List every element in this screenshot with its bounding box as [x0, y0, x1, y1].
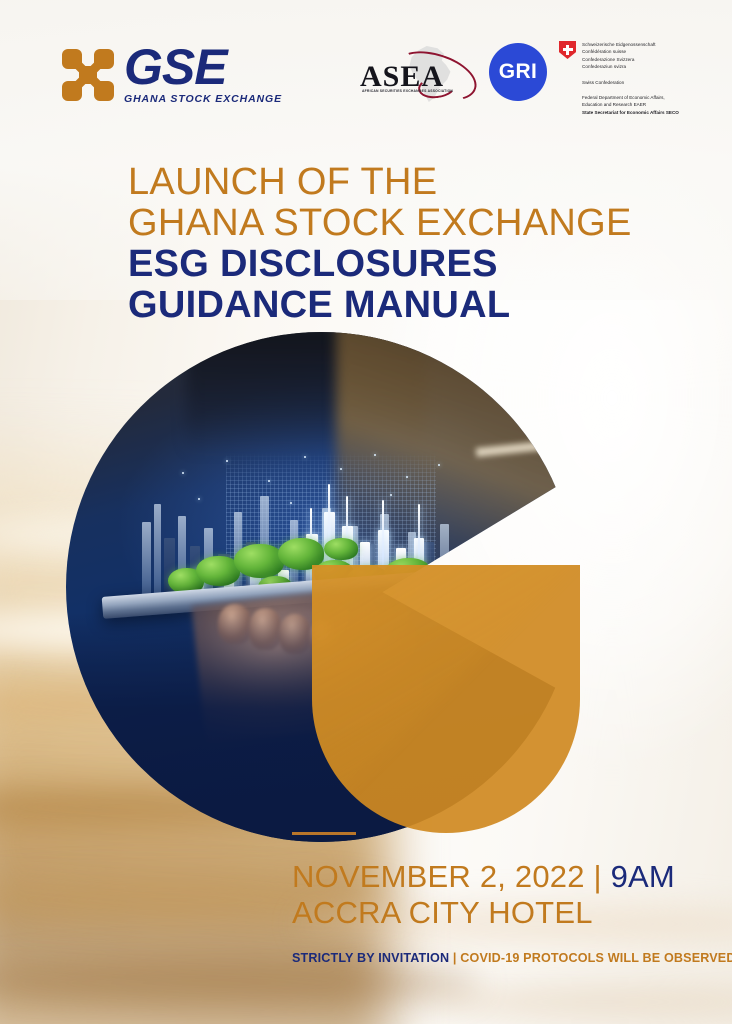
gse-tagline: GHANA STOCK EXCHANGE	[124, 93, 282, 105]
gse-cross-mark-icon	[62, 49, 114, 101]
event-venue: ACCRA CITY HOTEL	[292, 895, 732, 931]
event-date: NOVEMBER 2, 2022	[292, 859, 585, 894]
swiss-confederation-label: Swiss Confederation	[582, 80, 709, 85]
note-invitation: STRICTLY BY INVITATION	[292, 951, 449, 965]
gri-logo: GRI	[489, 43, 547, 101]
asea-logo: ASEA AFRICAN SECURITIES EXCHANGES ASSOCI…	[360, 48, 480, 106]
orange-semicircle-sheen	[312, 565, 580, 833]
event-note: STRICTLY BY INVITATION | COVID-19 PROTOC…	[292, 951, 732, 965]
swiss-dept-line1: Federal Department of Economic Affairs,	[582, 94, 709, 101]
note-separator: |	[453, 951, 457, 965]
datetime-separator: |	[594, 859, 602, 894]
swiss-lang-fr: Confédération suisse	[582, 48, 656, 55]
swiss-confederation-logo: Schweizerische Eidgenossenschaft Confédé…	[559, 41, 709, 116]
headline-line-4: GUIDANCE MANUAL	[128, 285, 632, 326]
event-time: 9AM	[611, 859, 675, 894]
swiss-dept-line3: State Secretariat for Economic Affairs S…	[582, 109, 709, 116]
event-datetime: NOVEMBER 2, 2022 | 9AM	[292, 859, 732, 895]
event-details: NOVEMBER 2, 2022 | 9AM ACCRA CITY HOTEL …	[292, 832, 732, 965]
gse-wordmark-block: GSE GHANA STOCK EXCHANGE	[124, 44, 282, 105]
swiss-dept-line2: Education and Research EAER	[582, 101, 709, 108]
gse-wordmark: GSE	[124, 44, 282, 91]
poster-canvas: GSE GHANA STOCK EXCHANGE ASEA AFRICAN SE…	[0, 0, 732, 1024]
poster-headline: LAUNCH OF THE GHANA STOCK EXCHANGE ESG D…	[128, 162, 632, 326]
gse-logo: GSE GHANA STOCK EXCHANGE	[62, 44, 282, 105]
asea-tagline: AFRICAN SECURITIES EXCHANGES ASSOCIATION	[362, 89, 453, 93]
swiss-language-list: Schweizerische Eidgenossenschaft Confédé…	[582, 41, 656, 71]
note-covid: COVID-19 PROTOCOLS WILL BE OBSERVED	[460, 951, 732, 965]
swiss-lang-it: Confederazione Svizzera	[582, 56, 656, 63]
gri-wordmark: GRI	[499, 60, 538, 84]
headline-line-3: ESG DISCLOSURES	[128, 244, 632, 285]
swiss-lang-de: Schweizerische Eidgenossenschaft	[582, 41, 656, 48]
headline-line-2: GHANA STOCK EXCHANGE	[128, 203, 632, 244]
accent-dash	[292, 832, 356, 835]
swiss-shield-icon	[559, 41, 576, 59]
swiss-department-block: Federal Department of Economic Affairs, …	[582, 94, 709, 116]
headline-line-1: LAUNCH OF THE	[128, 162, 632, 203]
swiss-lang-rm: Confederaziun svizra	[582, 63, 656, 70]
sponsor-logo-bar: GSE GHANA STOCK EXCHANGE ASEA AFRICAN SE…	[0, 0, 732, 140]
